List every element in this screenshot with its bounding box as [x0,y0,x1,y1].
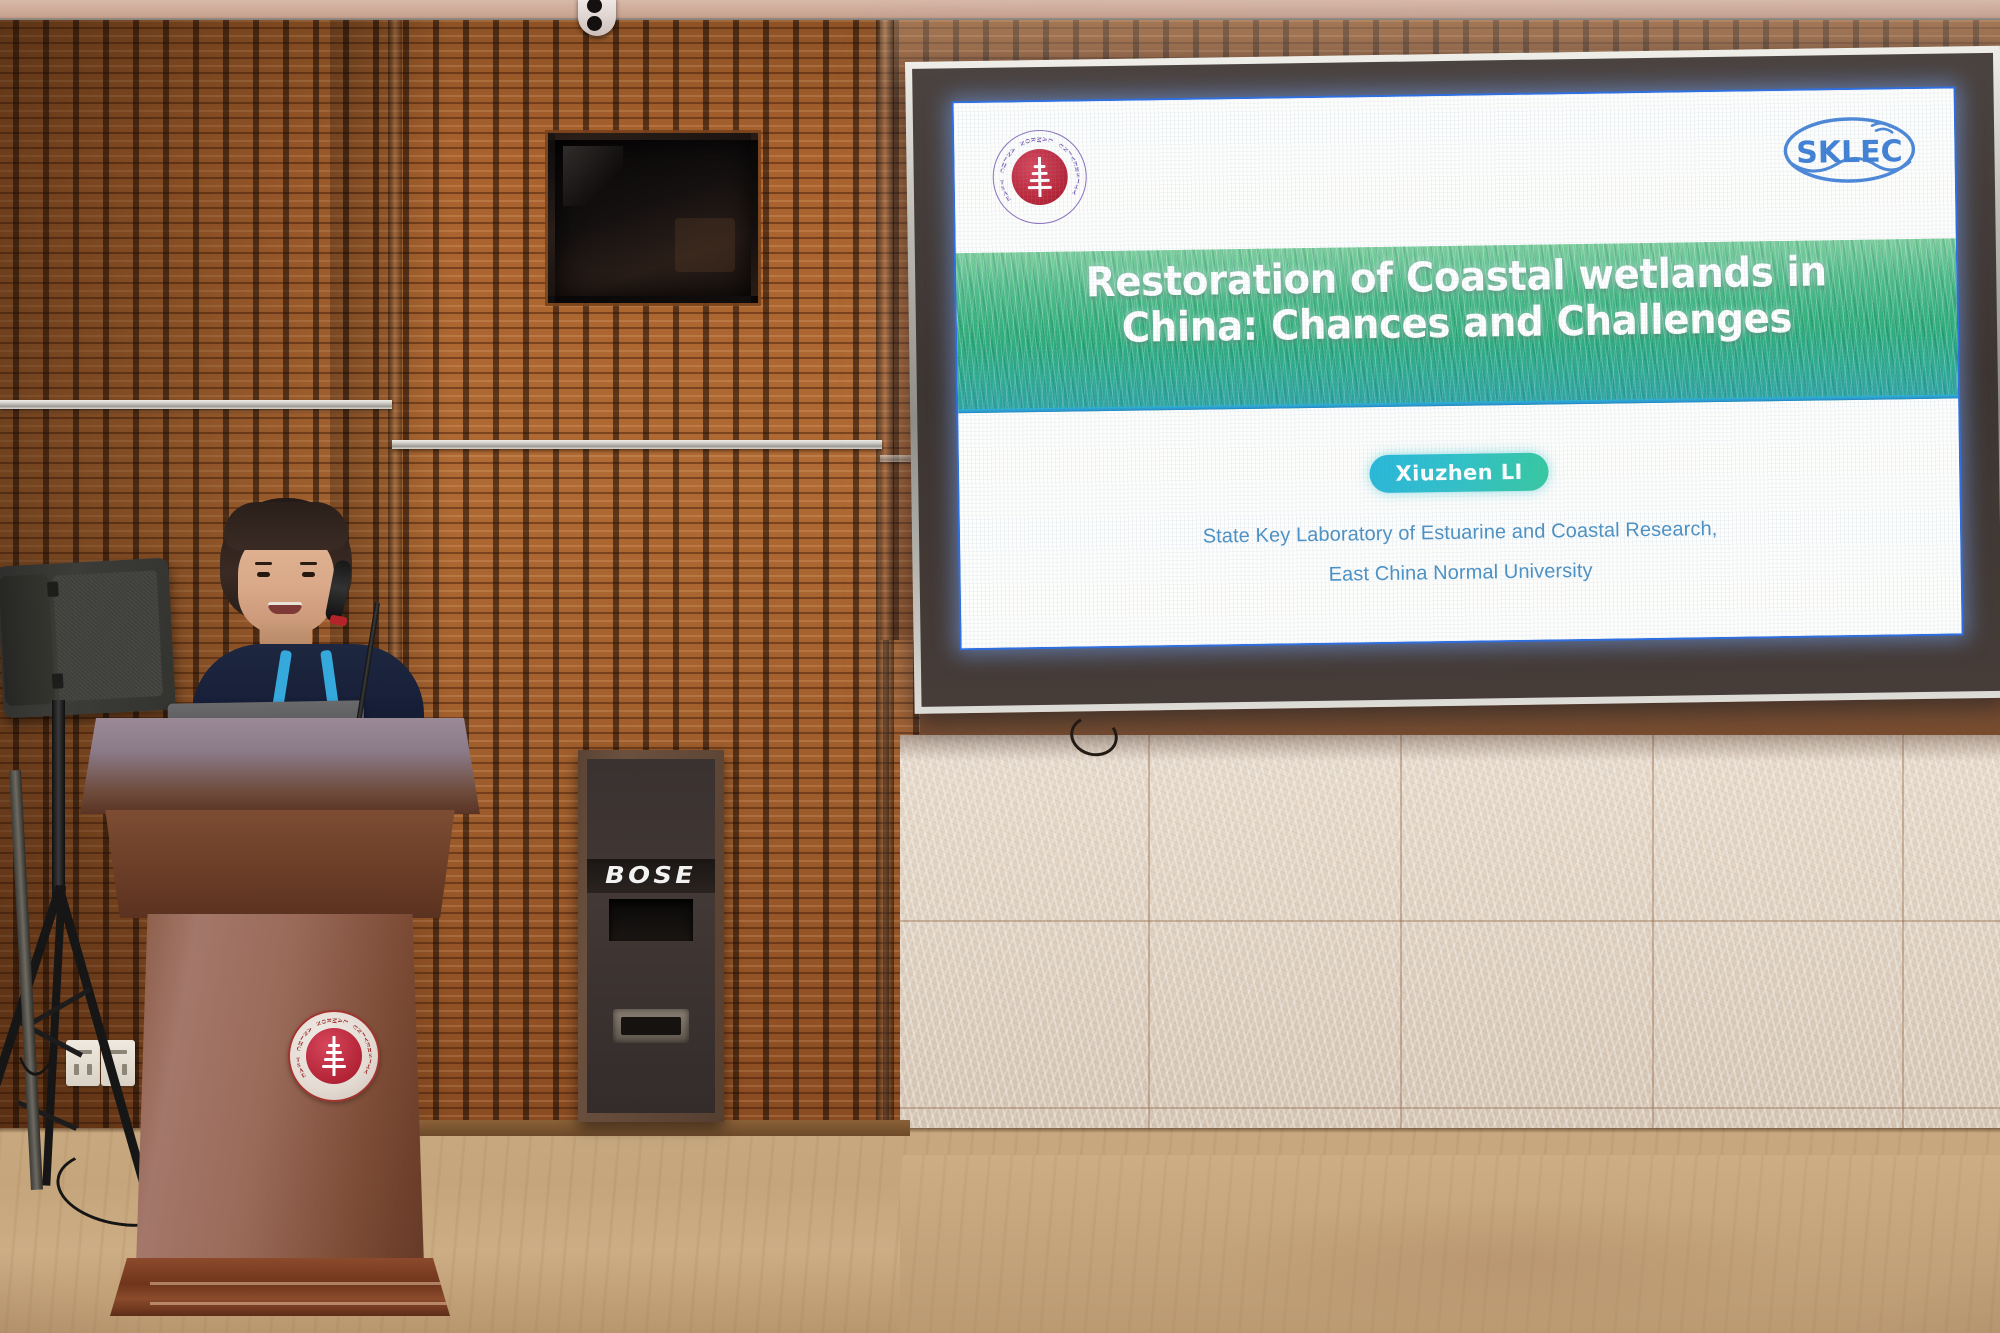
camera-lens-upper [587,0,602,13]
wall-trim-strip-mid [392,440,882,449]
window-interior-shape [675,218,735,272]
sklec-logo-icon: SKLEC [1776,111,1923,189]
wall-trim-strip-left-upper [0,400,392,409]
stone-tile-wall [900,735,2000,1165]
hall-floor-right [900,1155,2000,1333]
slide-content: EAST CHINA NORMAL UNIVERSITY [954,88,1962,648]
speaker-handle-bottom [52,673,64,689]
podium-tree-icon [322,1036,346,1076]
pa-monitor-speaker [0,558,176,719]
ecnu-tree-icon [1027,157,1052,197]
presenter-fringe [224,502,348,550]
presentation-hall-photo: EAST CHINA NORMAL UNIVERSITY [0,0,2000,1333]
stone-grout-horizontal-2 [900,1107,2000,1109]
podium-ecnu-emblem-icon: EAST CHINA NORMAL UNIVERSITY [288,1010,380,1102]
bose-lower-panel [613,1009,689,1043]
podium-column: EAST CHINA NORMAL UNIVERSITY [136,914,424,1266]
presenter-brow-left [255,562,272,565]
slide-body-band: Xiuzhen LI State Key Laboratory of Estua… [958,402,1961,648]
slide-title: Restoration of Coastal wetlands in China… [986,247,1927,353]
bose-lower-panel-recess [621,1017,681,1035]
podium: EAST CHINA NORMAL UNIVERSITY [80,718,480,1333]
presenter-mouth [268,602,302,614]
bose-bass-port [609,899,693,941]
projection-screen-frame: EAST CHINA NORMAL UNIVERSITY [905,46,2000,714]
presenter-brow-right [300,562,317,565]
stone-grout-vertical-1 [1148,735,1150,1165]
stone-grout-vertical-3 [1652,735,1654,1165]
bose-logo-band: BOSE [587,859,715,893]
affiliation-line-1: State Key Laboratory of Estuarine and Co… [960,514,1960,552]
presenter-name-badge: Xiuzhen LI [1369,452,1549,493]
bose-wordmark: BOSE [605,863,696,889]
stone-grout-vertical-2 [1400,735,1402,1165]
window-glass-glint [563,146,623,206]
affiliation-line-2: East China Normal University [961,554,1961,592]
camera-lens-lower [587,16,602,31]
svg-text:SKLEC: SKLEC [1796,134,1903,171]
presenter-eye-left [257,572,270,577]
wall-corner-seam-right [876,20,894,1170]
bose-speaker-cabinet: BOSE [578,750,724,1122]
stone-grout-vertical-4 [1902,735,1904,1165]
speaker-handle-top [47,581,59,597]
podium-desktop [80,718,480,814]
projected-slide: EAST CHINA NORMAL UNIVERSITY [954,88,1962,648]
presenter-eye-right [302,572,315,577]
bose-cabinet-inner: BOSE [587,759,715,1113]
podium-base [110,1258,450,1316]
podium-front-face [98,810,462,918]
podium-emblem-core [306,1028,362,1084]
speaker-grille [53,570,163,701]
control-booth-window [548,133,758,303]
stone-wall-top-shadow [900,735,2000,761]
stone-grout-horizontal [900,920,2000,922]
